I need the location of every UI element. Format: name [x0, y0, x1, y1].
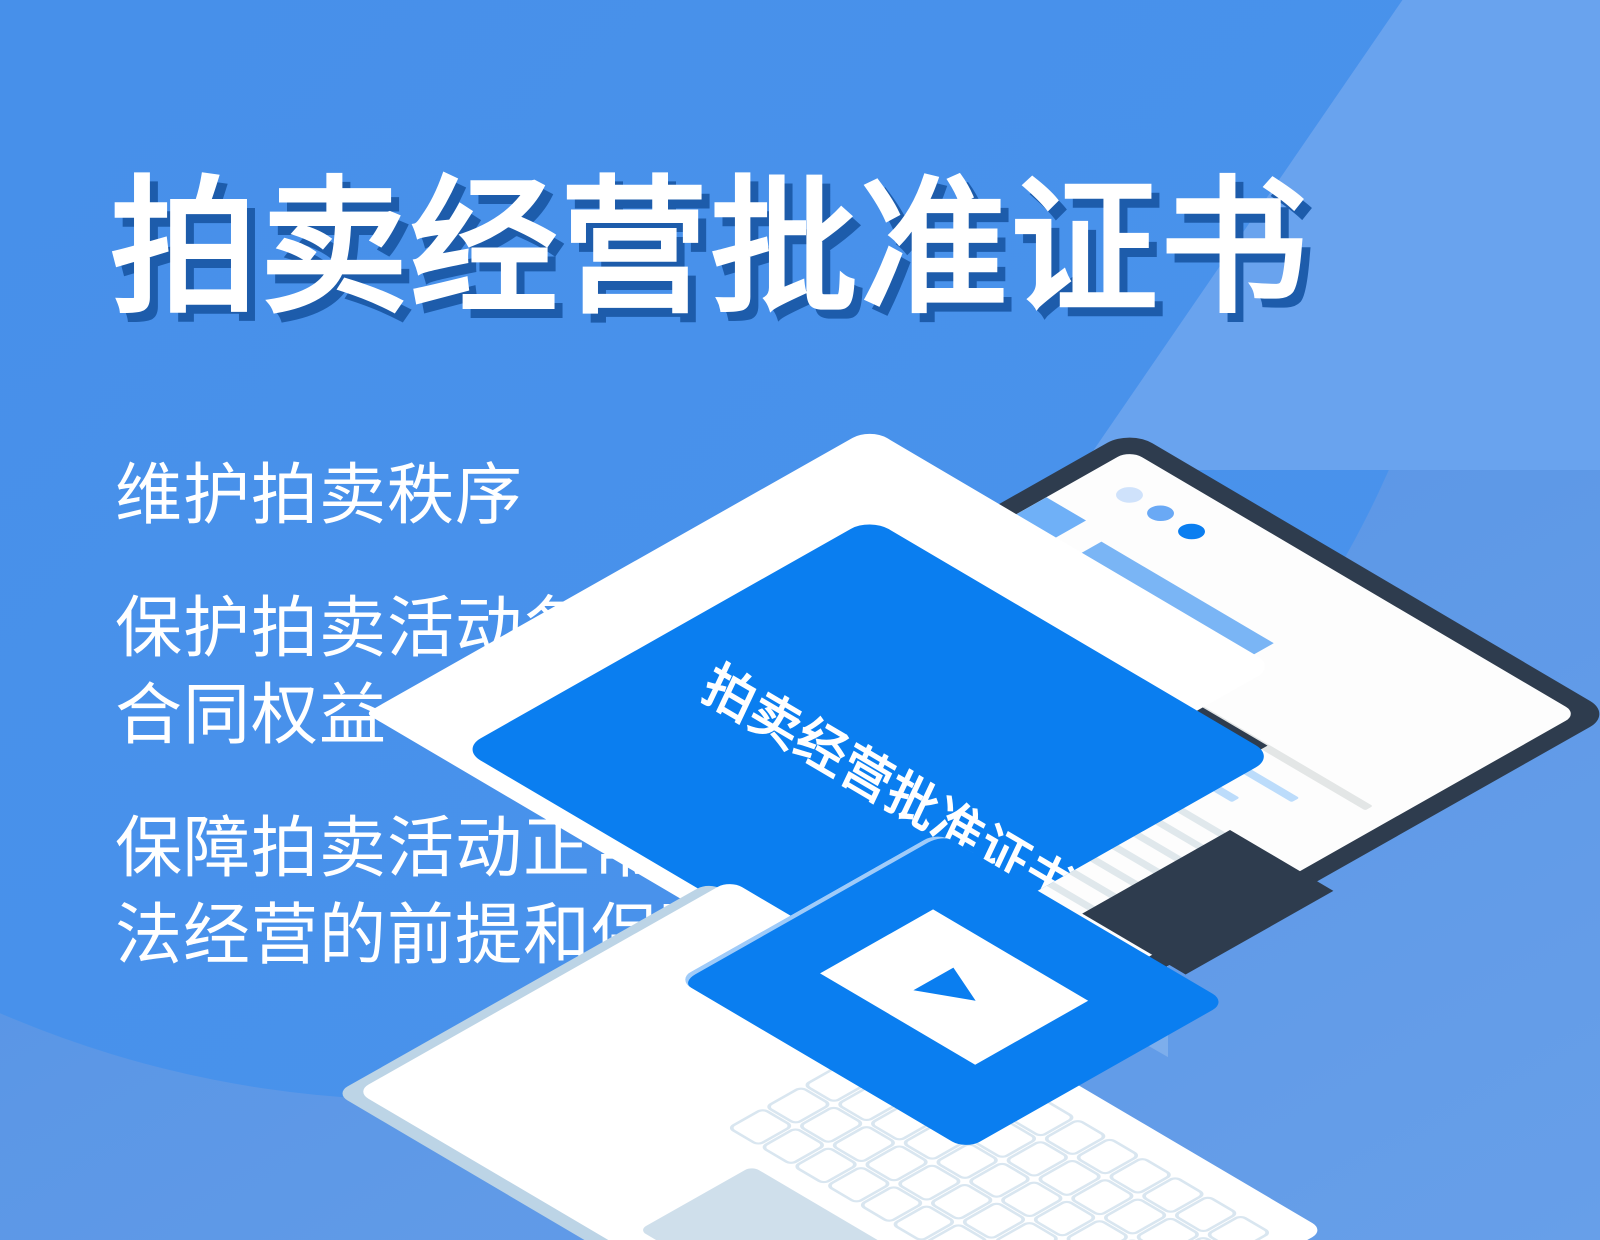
dot-strong-icon: [1172, 521, 1210, 543]
window-dots: [1110, 484, 1210, 543]
dot-light-icon: [1110, 484, 1148, 506]
isometric-illustration: 拍卖经营批准证书: [760, 400, 1600, 1240]
play-icon: [913, 968, 993, 1014]
poster-canvas: 拍卖经营批准证书 维护拍卖秩序 保护拍卖活动各方当事人的合同权益 保障拍卖活动正…: [0, 0, 1600, 1240]
play-button-frame: [820, 909, 1088, 1064]
isometric-scene: 拍卖经营批准证书: [760, 400, 1600, 1240]
page-title: 拍卖经营批准证书: [110, 175, 1310, 323]
dot-medium-icon: [1141, 502, 1179, 524]
